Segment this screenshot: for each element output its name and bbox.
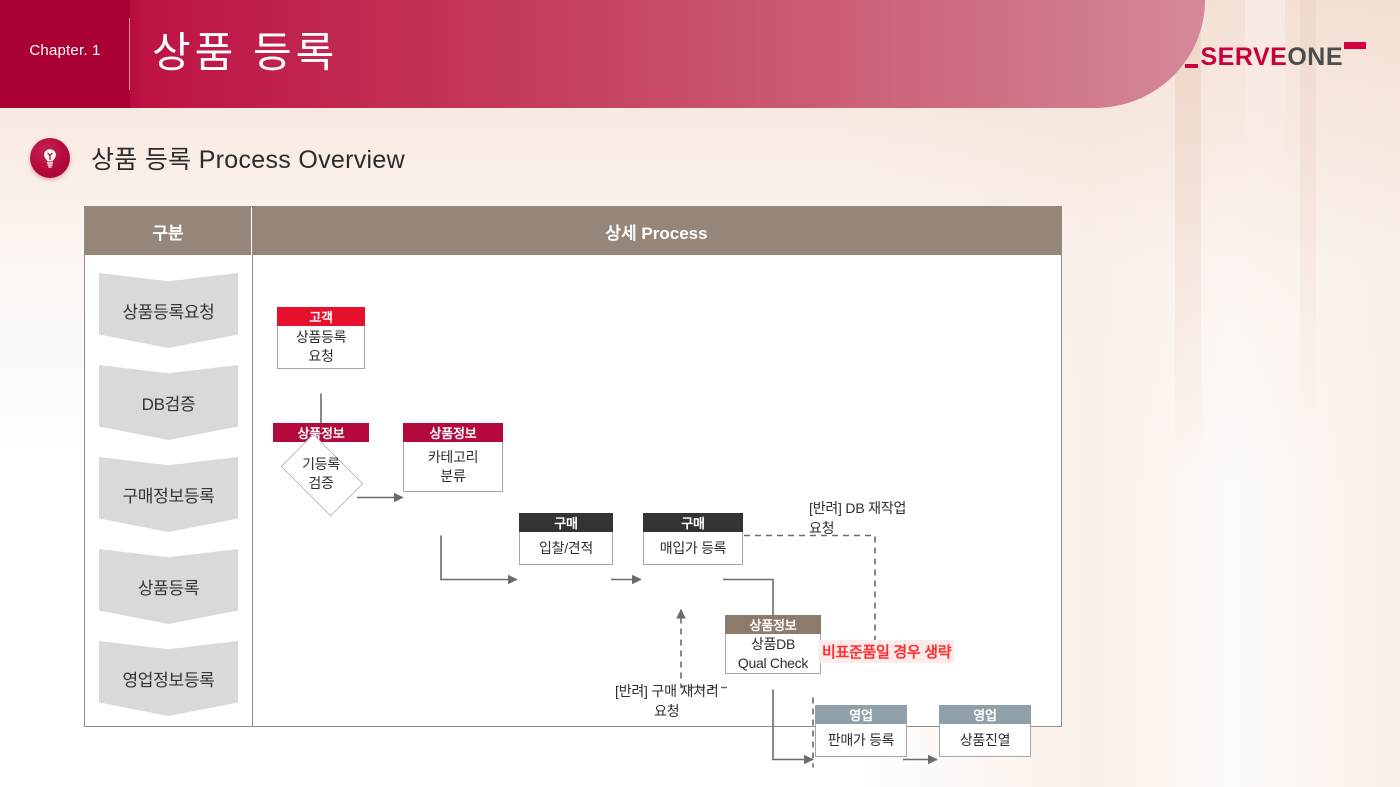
stage-chevron-2: DB검증 xyxy=(99,365,238,440)
flow-node-buyprice-owner: 구매 xyxy=(643,513,743,532)
process-table: 구분 상세 Process 상품등록요청 DB검증 구매정보등록 상품등록 영업… xyxy=(84,206,1062,727)
flow-node-category-line2: 분류 xyxy=(440,467,465,486)
flow-node-dbcheck-line2: 검증 xyxy=(308,474,333,493)
flow-node-display-body: 상품진열 xyxy=(939,724,1031,757)
flow-node-buyprice: 구매 매입가 등록 xyxy=(643,513,743,565)
flow-node-qualcheck-line2: Qual Check xyxy=(738,654,808,673)
logo-dash-icon xyxy=(1185,64,1198,68)
page-title: 상품 등록 xyxy=(152,23,338,83)
flow-node-request: 고객 상품등록 요청 xyxy=(277,307,365,369)
slide-header-bar: Chapter. 1 상품 등록 xyxy=(0,0,1205,108)
stage-chevron-4: 상품등록 xyxy=(99,549,238,624)
flow-node-buyprice-line1: 매입가 등록 xyxy=(660,539,727,558)
logo-bar-icon xyxy=(1344,42,1366,49)
section-title-label: 상품 등록 Process Overview xyxy=(91,140,405,176)
annotation-reject-db: [반려] DB 재작업 요청 xyxy=(809,498,906,538)
flow-node-qualcheck-body: 상품DB Qual Check xyxy=(725,634,821,674)
flow-node-sellprice: 영업 판매가 등록 xyxy=(815,705,907,757)
table-body: 상품등록요청 DB검증 구매정보등록 상품등록 영업정보등록 xyxy=(85,255,1061,727)
flow-node-category: 상품정보 카테고리 분류 xyxy=(403,423,503,492)
flow-node-bid-line1: 입찰/견적 xyxy=(539,539,593,558)
flow-node-qualcheck-line1: 상품DB xyxy=(751,635,795,654)
flow-node-display-line1: 상품진열 xyxy=(960,731,1010,750)
flow-node-buyprice-body: 매입가 등록 xyxy=(643,532,743,565)
logo-one-text: ONE xyxy=(1287,43,1343,72)
flow-node-dbcheck-owner: 상품정보 xyxy=(273,423,369,442)
flow-node-request-body: 상품등록 요청 xyxy=(277,326,365,369)
flow-node-dbcheck-text: 기등록 검증 xyxy=(273,443,369,505)
chapter-label: Chapter. 1 xyxy=(0,42,130,59)
annotation-reject-buy-line2: 요청 xyxy=(615,701,719,721)
flow-node-dbcheck: 상품정보 xyxy=(273,423,369,442)
table-header-process: 상세 Process xyxy=(252,207,1061,255)
stage-label-5: 영업정보등록 xyxy=(122,666,214,691)
lightbulb-icon xyxy=(30,138,70,178)
serveone-logo: SERVE ONE xyxy=(1185,42,1367,72)
flow-node-category-line1: 카테고리 xyxy=(428,448,478,467)
stage-label-2: DB검증 xyxy=(142,390,196,415)
annotation-omit-note: 비표준품일 경우 생략 xyxy=(819,640,954,663)
flow-node-dbcheck-line1: 기등록 xyxy=(302,455,340,474)
flow-node-sellprice-owner: 영업 xyxy=(815,705,907,724)
stage-label-1: 상품등록요청 xyxy=(122,298,214,323)
logo-serve-text: SERVE xyxy=(1201,43,1288,72)
annotation-reject-buy-line1: [반려] 구매 재처리 xyxy=(615,681,719,701)
annotation-reject-db-line2: 요청 xyxy=(809,518,906,538)
section-title: 상품 등록 Process Overview xyxy=(30,138,405,178)
background-streak-a xyxy=(1175,0,1201,480)
flow-node-display-owner: 영업 xyxy=(939,705,1031,724)
flow-node-category-body: 카테고리 분류 xyxy=(403,442,503,492)
annotation-reject-buy: [반려] 구매 재처리 요청 xyxy=(615,681,719,721)
stage-chevron-3: 구매정보등록 xyxy=(99,457,238,532)
table-header-row: 구분 상세 Process xyxy=(85,207,1061,255)
flow-node-bid: 구매 입찰/견적 xyxy=(519,513,613,565)
flow-node-request-owner: 고객 xyxy=(277,307,365,326)
table-header-category: 구분 xyxy=(85,207,252,255)
flow-node-request-line2: 요청 xyxy=(308,347,333,366)
stage-chevron-1: 상품등록요청 xyxy=(99,273,238,348)
flow-node-qualcheck: 상품정보 상품DB Qual Check xyxy=(725,615,821,674)
stage-label-4: 상품등록 xyxy=(138,574,199,599)
flow-node-category-owner: 상품정보 xyxy=(403,423,503,442)
flow-node-display: 영업 상품진열 xyxy=(939,705,1031,757)
flow-node-sellprice-line1: 판매가 등록 xyxy=(828,731,895,750)
flow-node-qualcheck-owner: 상품정보 xyxy=(725,615,821,634)
flow-node-sellprice-body: 판매가 등록 xyxy=(815,724,907,757)
stage-label-3: 구매정보등록 xyxy=(122,482,214,507)
flow-node-bid-owner: 구매 xyxy=(519,513,613,532)
annotation-reject-db-line1: [반려] DB 재작업 xyxy=(809,498,906,518)
stage-chevron-5: 영업정보등록 xyxy=(99,641,238,716)
flow-node-bid-body: 입찰/견적 xyxy=(519,532,613,565)
flow-node-request-line1: 상품등록 xyxy=(296,328,346,347)
